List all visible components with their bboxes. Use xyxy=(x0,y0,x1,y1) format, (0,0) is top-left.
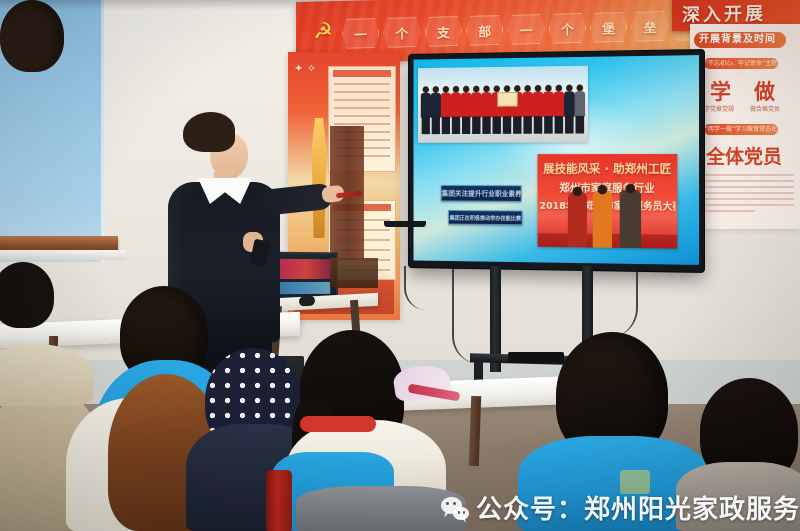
slide-bullet-1: 集团关注提升行业职业素养 xyxy=(441,185,522,202)
presenter-hair-front xyxy=(183,112,235,152)
window-sill xyxy=(0,250,126,260)
hammer-sickle-icon: ☭ xyxy=(310,19,336,46)
vest-logo-patch xyxy=(620,470,650,494)
banner-word: 个 xyxy=(383,17,420,48)
poster-big-char-right: 做 xyxy=(754,76,775,106)
certificate-prop xyxy=(497,92,518,107)
photograph-scene: ☭ 一 个 支 部 一 个 堡 垒 一 深入开展 ✦ ✧ xyxy=(0,0,800,531)
slide-photo-award: 展技能风采 · 助郑州工匠 郑州市家庭服务行业 2018年度郑州市家政服务员大赛 xyxy=(538,154,678,249)
party-poster-right: 开展背景及时间 “不忘初心、牢记使命”主题教育 学 做 学党章党规 做合格党员 … xyxy=(690,24,800,229)
wooden-cabinet xyxy=(330,258,378,288)
banner-word: 个 xyxy=(549,13,586,44)
award-banner-line-1: 展技能风采 · 助郑州工匠 xyxy=(541,160,673,177)
slide-photo-group xyxy=(418,66,588,143)
poster-sub-left: 学党章党规 xyxy=(704,104,734,113)
computer-mouse[interactable] xyxy=(299,296,315,307)
dove-icon: ✦ ✧ xyxy=(294,62,316,75)
banner-word: 一 xyxy=(507,14,544,45)
banner-word: 堡 xyxy=(590,12,627,43)
presenter xyxy=(0,0,64,72)
red-scarf xyxy=(300,416,376,432)
poster-header-pill: 开展背景及时间 xyxy=(694,32,786,48)
red-thermos xyxy=(266,470,292,531)
poster-header-text: 开展背景及时间 xyxy=(694,32,786,48)
tv-screen: 展技能风采 · 助郑州工匠 郑州市家庭服务行业 2018年度郑州市家政服务员大赛… xyxy=(413,55,699,265)
poster-pill-1: “不忘初心、牢记使命”主题教育 xyxy=(704,58,778,69)
banner-word: 一 xyxy=(342,18,379,49)
poster-sub-right: 做合格党员 xyxy=(750,104,780,113)
poster-big-bottom: 全体党员 xyxy=(706,142,782,169)
poster-pill-2: “两学一做”学习教育常态化制度化 xyxy=(704,124,778,135)
poster-body-text xyxy=(696,174,794,216)
poster-big-char-left: 学 xyxy=(710,76,731,106)
presenter-hair xyxy=(0,0,64,72)
banner-word: 部 xyxy=(466,15,503,46)
banner-word: 支 xyxy=(425,16,462,47)
banner-word: 垒 xyxy=(631,11,668,42)
slide-bullet-2: 集团正在积极推动举办技能比赛 xyxy=(448,210,522,225)
power-cable xyxy=(452,268,480,364)
cable-box xyxy=(508,352,564,363)
tv-mount-plate xyxy=(384,221,426,227)
wall-display[interactable]: 展技能风采 · 助郑州工匠 郑州市家庭服务行业 2018年度郑州市家政服务员大赛… xyxy=(409,50,704,272)
